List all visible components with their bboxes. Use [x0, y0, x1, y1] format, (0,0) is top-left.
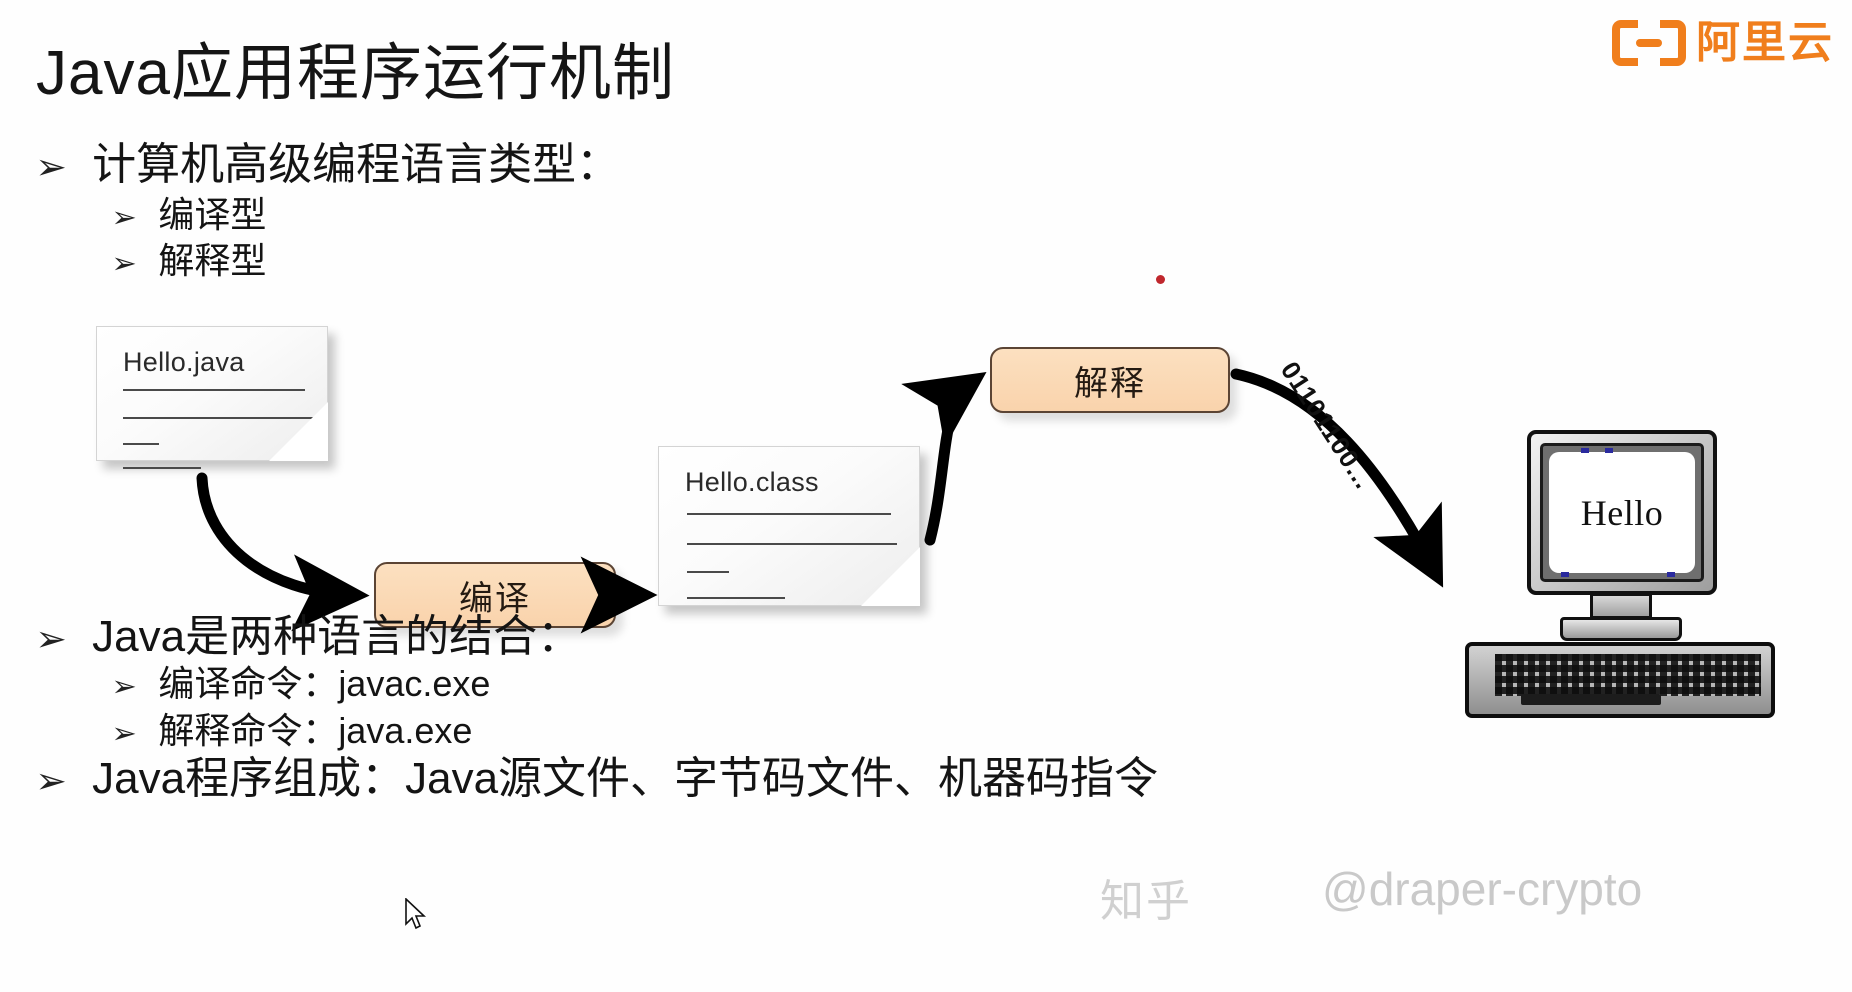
process-box-interpret: 解释 [990, 347, 1230, 413]
document-text-line [123, 389, 305, 391]
document-text-line [123, 417, 315, 419]
arrow-interpret-to-computer [1236, 374, 1435, 572]
bullet-label: 编译命令：javac.exe [158, 655, 490, 707]
bullet-label: Java程序组成：Java源文件、字节码文件、机器码指令 [92, 742, 1158, 806]
monitor-base [1560, 617, 1682, 641]
page-title: Java应用程序运行机制 [36, 22, 675, 112]
bullet-arrow-icon: ➢ [111, 200, 137, 234]
author-watermark: @draper-crypto [1322, 862, 1642, 916]
red-dot-marker [1156, 275, 1165, 284]
bullet-arrow-icon: ➢ [35, 761, 67, 802]
screen-led-icon [1605, 448, 1613, 453]
bullet-compiled-type: ➢ 编译型 [112, 186, 266, 238]
document-hello-java: Hello.java [96, 326, 328, 461]
monitor-stand [1590, 593, 1652, 619]
document-text-line [687, 571, 729, 573]
bullet-arrow-icon: ➢ [111, 246, 137, 280]
arrow-class-to-interpret [930, 382, 972, 540]
arrow-source-to-compile [202, 478, 352, 595]
screen-led-icon [1667, 572, 1675, 577]
screen-led-icon [1581, 448, 1589, 453]
desktop-computer-icon: Hello [1465, 430, 1775, 730]
document-fold-icon [269, 402, 328, 461]
keyboard-spacebar [1521, 694, 1661, 705]
monitor-screen: Hello [1549, 452, 1695, 573]
bullet-arrow-icon: ➢ [111, 669, 137, 703]
bullet-language-types: ➢ 计算机高级编程语言类型： [36, 128, 620, 192]
slide-canvas: Java应用程序运行机制 阿里云 ➢ 计算机高级编程语言类型： ➢ 编译型 ➢ … [0, 0, 1852, 992]
screen-text: Hello [1581, 492, 1663, 534]
document-title: Hello.class [685, 467, 819, 498]
keyboard-keys [1495, 654, 1761, 696]
alibaba-cloud-logo: 阿里云 [1612, 20, 1834, 66]
document-title: Hello.java [123, 347, 245, 378]
bullet-label: 计算机高级编程语言类型： [92, 128, 620, 192]
zhihu-watermark: 知乎 [1100, 865, 1192, 929]
bullet-arrow-icon: ➢ [35, 619, 67, 660]
document-text-line [123, 443, 159, 445]
document-text-line [123, 467, 201, 469]
mouse-cursor-icon [404, 898, 428, 932]
alibaba-cloud-bracket-icon [1612, 20, 1686, 66]
bullet-interpreted-type: ➢ 解释型 [112, 232, 266, 284]
bullet-label: 编译型 [158, 186, 266, 238]
bullet-java-program-composition: ➢ Java程序组成：Java源文件、字节码文件、机器码指令 [36, 742, 1158, 806]
screen-led-icon [1561, 572, 1569, 577]
document-text-line [687, 513, 891, 515]
bullet-label: 解释型 [158, 232, 266, 284]
document-text-line [687, 543, 897, 545]
bullet-arrow-icon: ➢ [35, 147, 67, 188]
binary-stream-label: 01101100... [1274, 356, 1379, 495]
brand-name: 阿里云 [1696, 21, 1834, 65]
bullet-compile-command: ➢ 编译命令：javac.exe [112, 655, 490, 707]
monitor-body: Hello [1527, 430, 1717, 595]
document-fold-icon [861, 547, 920, 606]
monitor-bezel: Hello [1540, 443, 1704, 582]
document-text-line [687, 597, 785, 599]
document-hello-class: Hello.class [658, 446, 920, 606]
keyboard [1465, 642, 1775, 718]
